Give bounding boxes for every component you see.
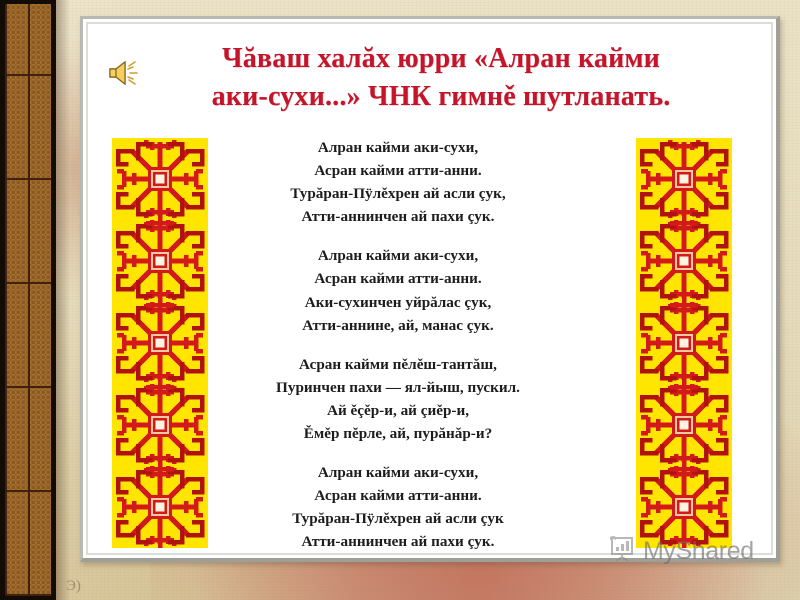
lyrics-line: Турăран-Пÿлěхрен ай асли çук [228,507,568,530]
lyrics-line: Атти-аннине, ай, манас çук. [228,314,568,337]
filmstrip-texture [5,4,51,596]
page-title: Чăваш халăх юрри «Алран кайми аки-сухи..… [136,40,746,115]
presentation-chart-icon [608,534,638,569]
slide-stage: Э) [0,0,800,600]
lyrics-line: Асран кайми атти-анни. [228,159,568,182]
lyrics-line: Алран кайми аки-сухи, [228,461,568,484]
slide-inner-frame: Чăваш халăх юрри «Алран кайми аки-сухи..… [86,22,773,555]
page-title-line-1: Чăваш халăх юрри «Алран кайми [136,40,746,78]
lyrics-line: Аки-сухинчен уйрăлас çук, [228,291,568,314]
page-title-line-2: аки-сухи...» ЧНК гимнě шутланать. [136,78,746,116]
chuvash-ornament-right [636,138,732,548]
lyrics-stanza: Алран кайми аки-сухи, Асран кайми атти-а… [228,461,568,553]
lyrics-stanza: Алран кайми аки-сухи, Асран кайми атти-а… [228,136,568,228]
slide-card: Чăваш халăх юрри «Алран кайми аки-сухи..… [80,16,780,562]
lyrics-line: Асран кайми атти-анни. [228,484,568,507]
lyrics-stanza: Асран кайми пěлěш-тантăш, Пуринчен пахи … [228,353,568,445]
filmstrip-sidebar [0,0,56,600]
lyrics-line: Асран кайми пěлěш-тантăш, [228,353,568,376]
lyrics-line: Турăран-Пÿлěхрен ай асли çук, [228,182,568,205]
chuvash-ornament-left [112,138,208,548]
lyrics-line: Атти-аннинчен ай пахи çук. [228,530,568,553]
lyrics-line: Ěмěр пěрле, ай, пурăнăр-и? [228,422,568,445]
lyrics-stanza: Алран кайми аки-сухи, Асран кайми атти-а… [228,244,568,336]
lyrics-line: Асран кайми атти-анни. [228,267,568,290]
filmstrip-shadow [56,0,70,600]
lyrics-block: Алран кайми аки-сухи, Асран кайми атти-а… [228,136,568,554]
corner-pencil-mark: Э) [66,578,81,595]
myshared-label: MyShared [643,537,754,566]
lyrics-line: Пуринчен пахи — ял-йыш, пускил. [228,376,568,399]
lyrics-line: Алран кайми аки-сухи, [228,136,568,159]
lyrics-line: Алран кайми аки-сухи, [228,244,568,267]
lyrics-line: Атти-аннинчен ай пахи çук. [228,205,568,228]
lyrics-line: Ай ěçěр-и, ай çиěр-и, [228,399,568,422]
myshared-watermark: MyShared [608,534,754,569]
